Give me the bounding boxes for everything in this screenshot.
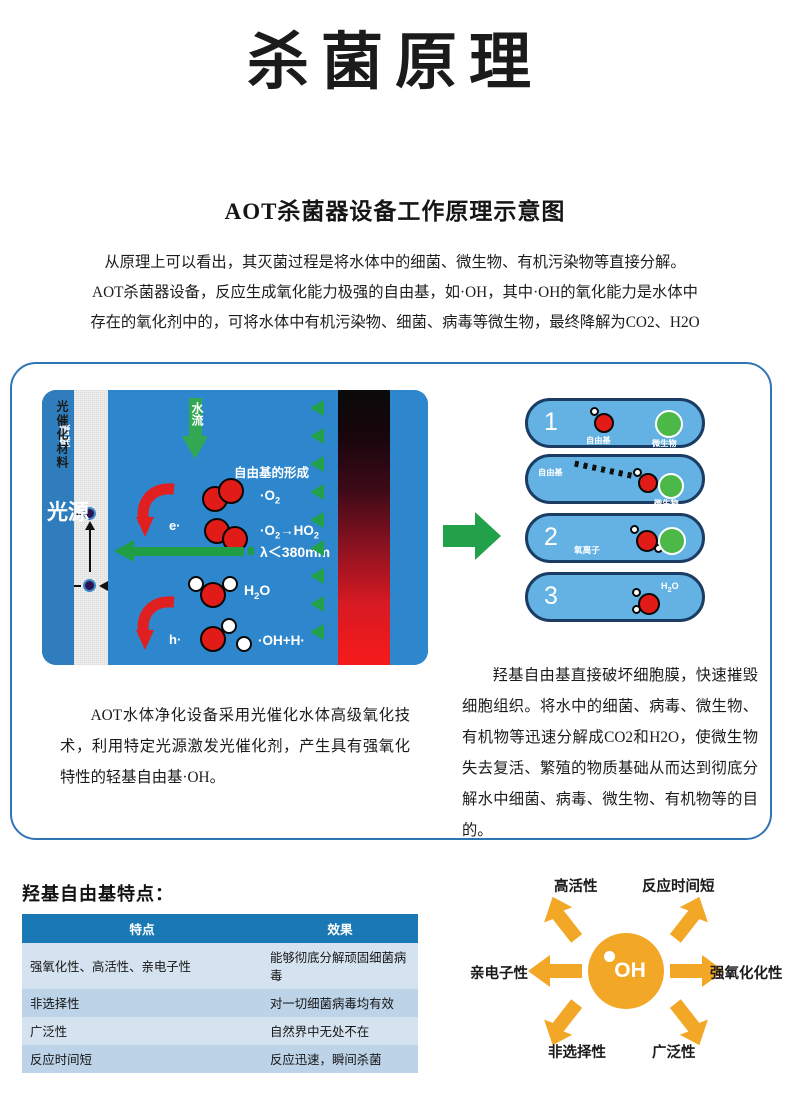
hole-curve-arrow bbox=[134, 596, 180, 658]
left-description: AOT水体净化设备采用光催化水体高级氧化技术，利用特定光源激发光催化剂，产生具有… bbox=[60, 700, 410, 793]
oh-radial-diagram: OH 高活性 反应时间短 亲电子性 强氧化化性 非选择性 广泛性 bbox=[470, 875, 780, 1065]
capsule-number: 3 bbox=[544, 582, 558, 611]
capsule-number: 1 bbox=[544, 408, 558, 437]
oh-arrow-up-right-icon bbox=[658, 893, 710, 947]
capsule-h2o-label: H2O bbox=[661, 581, 679, 594]
light-source-label: 光源 bbox=[42, 500, 94, 526]
capsule-radical-label: 自由基 bbox=[586, 434, 611, 446]
oh-arrow-up-left-icon bbox=[542, 893, 594, 947]
table-cell-effect: 自然界中无处不在 bbox=[262, 1017, 418, 1045]
feature-table: 特点 效果 强氧化性、高活性、亲电子性 能够彻底分解顽固细菌病毒 非选择性 对一… bbox=[22, 914, 418, 1073]
table-header-row: 特点 效果 bbox=[22, 914, 418, 943]
left-description-text: AOT水体净化设备采用光催化水体高级氧化技术，利用特定光源激发光催化剂，产生具有… bbox=[60, 700, 410, 793]
capsule-microbe-label: 微生物 bbox=[654, 497, 679, 509]
light-ray-chevron bbox=[310, 596, 324, 612]
capsule-number: 2 bbox=[544, 523, 558, 552]
table-cell-effect: 反应迅速，瞬间杀菌 bbox=[262, 1045, 418, 1073]
light-ray-chevron bbox=[310, 512, 324, 528]
wavelength-dots bbox=[228, 547, 254, 555]
light-ray-chevron bbox=[310, 428, 324, 444]
radical-trajectory bbox=[574, 461, 636, 480]
electron-particle-lower bbox=[83, 579, 96, 592]
radical-dot-atom bbox=[590, 407, 599, 416]
capsule-step-1b: 自由基 微生物 bbox=[525, 454, 705, 504]
oh-label-top-left: 高活性 bbox=[554, 875, 598, 896]
table-cell-feature: 反应时间短 bbox=[22, 1045, 262, 1073]
electron-curve-arrow bbox=[134, 483, 180, 545]
electron-up-arrow bbox=[89, 529, 91, 572]
oxygen-atom bbox=[218, 478, 244, 504]
radical-dot-atom bbox=[633, 468, 642, 477]
oh-label-top-right: 反应时间短 bbox=[642, 875, 715, 896]
feature-table-title: 羟基自由基特点： bbox=[22, 880, 174, 906]
formula-o2: ·O2 bbox=[260, 488, 280, 506]
radical-dot-atom bbox=[630, 525, 639, 534]
formula-h2o: H2O bbox=[244, 582, 270, 602]
radical-formation-label: 自由基的形成 bbox=[234, 462, 309, 481]
radical-atom bbox=[638, 473, 658, 493]
radical-atom bbox=[594, 413, 614, 433]
capsule-step-3: 3 H2O bbox=[525, 572, 705, 622]
hydrogen-atom bbox=[221, 618, 237, 634]
table-header-effect: 效果 bbox=[262, 914, 418, 943]
capsule-ion-label: 氧离子 bbox=[574, 544, 600, 556]
light-ray-chevron bbox=[310, 540, 324, 556]
light-ray-chevron bbox=[310, 624, 324, 640]
process-transition-arrow bbox=[443, 512, 501, 560]
right-description: 羟基自由基直接破坏细胞膜，快速摧毁细胞组织。将水中的细菌、病毒、微生物、有机物等… bbox=[462, 660, 758, 846]
oh-arrow-left-icon bbox=[526, 953, 584, 989]
table-row: 强氧化性、高活性、亲电子性 能够彻底分解顽固细菌病毒 bbox=[22, 943, 418, 989]
intro-line-3: 存在的氧化剂中的，可将水体中有机污染物、细菌、病毒等微生物，最终降解为CO2、H… bbox=[34, 308, 756, 338]
table-row: 非选择性 对一切细菌病毒均有效 bbox=[22, 989, 418, 1017]
table-cell-feature: 广泛性 bbox=[22, 1017, 262, 1045]
oh-label-right: 强氧化化性 bbox=[710, 962, 783, 983]
formula-oh-h: ·OH+H· bbox=[258, 633, 305, 648]
intro-line-1: 从原理上可以看出，其灭菌过程是将水体中的细菌、微生物、有机污染物等直接分解。 bbox=[34, 248, 756, 278]
capsule-radical-label: 自由基 bbox=[538, 466, 563, 478]
oxygen-atom bbox=[200, 582, 226, 608]
table-header-feature: 特点 bbox=[22, 914, 262, 943]
wavelength-arrow bbox=[114, 540, 244, 562]
diagram-subtitle: AOT杀菌器设备工作原理示意图 bbox=[0, 192, 790, 226]
water-hydrogen-atom bbox=[632, 588, 641, 597]
electron-dash-lower bbox=[74, 585, 81, 587]
capsule-microbe-label: 微生物 bbox=[652, 437, 677, 449]
intro-line-2: AOT杀菌器设备，反应生成氧化能力极强的自由基，如·OH，其中·OH的氧化能力是… bbox=[34, 278, 756, 308]
oh-label-bottom-left: 非选择性 bbox=[548, 1041, 606, 1062]
water-flow-label: 水流 bbox=[188, 402, 204, 426]
light-ray-chevron bbox=[310, 456, 324, 472]
table-row: 广泛性 自然界中无处不在 bbox=[22, 1017, 418, 1045]
reactor-panel: 管壁 光催化材料 水流 自由基的形成 e· ·O2 bbox=[42, 390, 428, 665]
intro-paragraph: 从原理上可以看出，其灭菌过程是将水体中的细菌、微生物、有机污染物等直接分解。 A… bbox=[34, 248, 756, 338]
hydrogen-atom bbox=[236, 636, 252, 652]
table-row: 反应时间短 反应迅速，瞬间杀菌 bbox=[22, 1045, 418, 1073]
light-source-bar bbox=[338, 390, 390, 665]
oh-label-left: 亲电子性 bbox=[470, 962, 528, 983]
hole-symbol: h· bbox=[169, 632, 181, 647]
photocatalyst-label: 光催化材料 bbox=[49, 400, 69, 470]
light-ray-chevron bbox=[310, 568, 324, 584]
table-cell-effect: 能够彻底分解顽固细菌病毒 bbox=[262, 943, 418, 989]
right-description-text: 羟基自由基直接破坏细胞膜，快速摧毁细胞组织。将水中的细菌、病毒、微生物、有机物等… bbox=[462, 660, 758, 846]
page-title: 杀菌原理 bbox=[0, 28, 790, 99]
capsule-step-1: 1 自由基 微生物 bbox=[525, 398, 705, 448]
table-cell-effect: 对一切细菌病毒均有效 bbox=[262, 989, 418, 1017]
oh-center-circle: OH bbox=[588, 933, 664, 1009]
capsule-step-2: 2 氧离子 bbox=[525, 513, 705, 563]
table-cell-feature: 非选择性 bbox=[22, 989, 262, 1017]
oh-label-bottom-right: 广泛性 bbox=[652, 1041, 696, 1062]
water-oxygen-atom bbox=[638, 593, 660, 615]
water-hydrogen-atom bbox=[632, 605, 641, 614]
poster-root: 杀菌原理 AOT杀菌器设备工作原理示意图 从原理上可以看出，其灭菌过程是将水体中… bbox=[0, 0, 790, 1099]
light-ray-chevron bbox=[310, 400, 324, 416]
light-ray-chevron bbox=[310, 484, 324, 500]
table-cell-feature: 强氧化性、高活性、亲电子性 bbox=[22, 943, 262, 989]
oh-center-label: OH bbox=[588, 933, 664, 1009]
microbe-circle bbox=[658, 527, 686, 555]
microbe-circle bbox=[658, 473, 684, 499]
electron-symbol: e· bbox=[169, 518, 181, 533]
microbe-circle bbox=[655, 410, 683, 438]
